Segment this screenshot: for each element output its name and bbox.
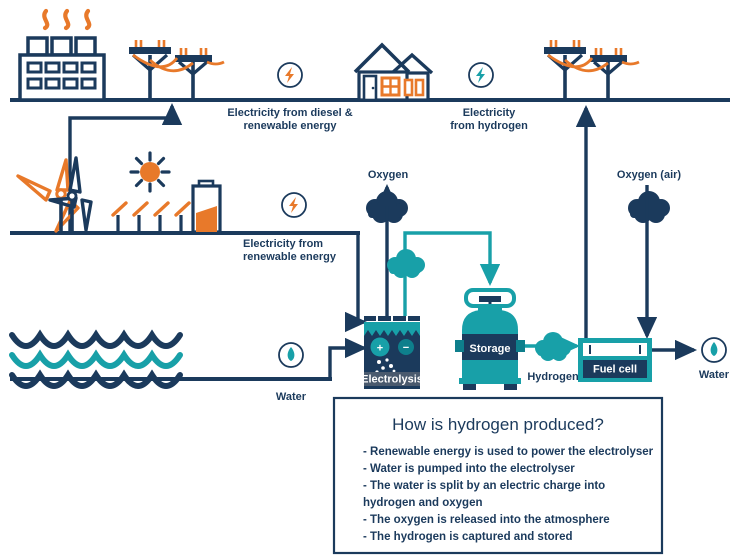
label-water-right: Water [699, 369, 730, 381]
storage-tank-icon: Storage [455, 290, 525, 390]
oxygen-air-cloud-icon [628, 191, 670, 223]
house-icon [355, 45, 432, 100]
fuel-cell-icon: Fuel cell [578, 338, 652, 382]
lightning-icon-renewable [282, 193, 306, 217]
pylon-icon-right [544, 40, 639, 100]
label-water-left: Water [276, 391, 307, 403]
label-electricity-hydrogen-line1: Electricity [463, 107, 516, 119]
label-electricity-diesel-line1: Electricity from diesel & [227, 107, 352, 119]
lightning-icon-hydrogen [469, 63, 493, 87]
hydrogen-production-diagram: Electricity from diesel & renewable ener… [0, 0, 740, 558]
wind-turbine-icon [18, 158, 91, 233]
info-box-bullet-3: hydrogen and oxygen [363, 497, 483, 509]
connector-water-to-electrolyser [330, 348, 364, 379]
label-electricity-hydrogen: Electricity from hydrogen [450, 107, 528, 132]
label-electricity-diesel-line2: renewable energy [244, 120, 338, 132]
label-storage: Storage [470, 343, 511, 355]
label-electrolysis: Electrolysis [361, 374, 423, 386]
label-electricity-renewable-line2: renewable energy [243, 251, 337, 263]
hydrogen-cloud-icon [535, 332, 571, 361]
connector-renewable-to-electrolyser [358, 233, 364, 322]
info-box-bullet-4: - The oxygen is released into the atmosp… [363, 514, 610, 526]
factory-icon [20, 11, 104, 100]
label-oxygen: Oxygen [368, 169, 409, 181]
sun-icon [131, 153, 169, 191]
water-drop-icon-left [279, 343, 303, 367]
lightning-icon-diesel [278, 63, 302, 87]
pylon-icon-left [129, 40, 224, 100]
waves-icon [12, 335, 180, 386]
info-box-bullet-0: - Renewable energy is used to power the … [363, 446, 654, 458]
smoke-icon [44, 11, 89, 28]
battery-icon [193, 181, 220, 232]
label-hydrogen: Hydrogen [527, 371, 579, 383]
label-electricity-diesel: Electricity from diesel & renewable ener… [227, 107, 352, 132]
hydrogen-cloud-icon-pipe [387, 249, 425, 278]
water-drop-icon-right [702, 338, 726, 362]
solar-panel-icon [113, 203, 189, 233]
infographic-canvas: Electricity from diesel & renewable ener… [0, 0, 740, 558]
info-box: How is hydrogen produced? - Renewable en… [334, 398, 662, 553]
info-box-bullet-2: - The water is split by an electric char… [363, 480, 605, 492]
label-electricity-renewable-line1: Electricity from [243, 238, 323, 250]
label-fuel-cell: Fuel cell [593, 364, 637, 376]
info-box-title: How is hydrogen produced? [392, 415, 604, 434]
label-oxygen-air: Oxygen (air) [617, 169, 682, 181]
info-box-bullet-1: - Water is pumped into the electrolyser [363, 463, 575, 475]
electrode-negative-label: − [403, 342, 409, 354]
label-electricity-renewable: Electricity from renewable energy [243, 238, 337, 263]
electrode-positive-label: + [377, 343, 383, 355]
info-box-bullet-5: - The hydrogen is captured and stored [363, 531, 573, 543]
label-electricity-hydrogen-line2: from hydrogen [450, 120, 528, 132]
electrolysis-unit-icon: + − Electrolysis [361, 316, 423, 389]
